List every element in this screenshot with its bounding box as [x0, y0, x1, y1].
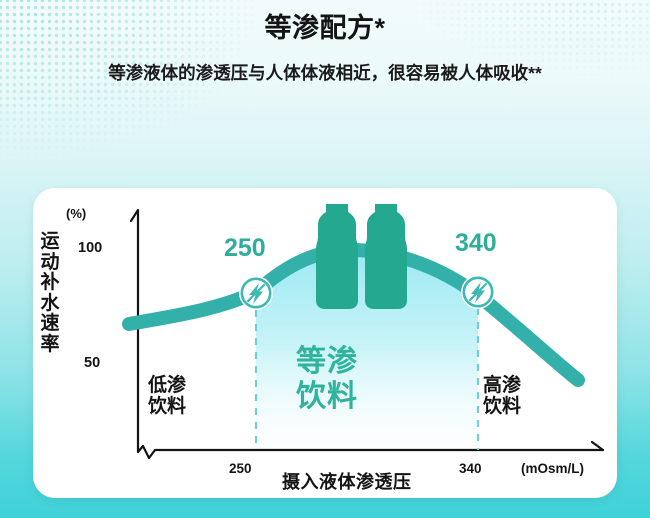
marker-value-250: 250 — [224, 234, 266, 263]
bottle-icon-left — [316, 204, 358, 309]
chart-card — [33, 188, 617, 498]
x-tick-label-340: 340 — [459, 461, 482, 476]
page-title: 等渗配方* — [0, 6, 650, 45]
lightning-bolt-badge-250[interactable] — [239, 276, 273, 310]
zone-isotonic-line-1: 等渗 — [296, 345, 358, 380]
y-tick-label-100: 100 — [78, 240, 102, 256]
poster-canvas: 等渗配方* 等渗液体的渗透压与人体体液相近，很容易被人体吸收** — [0, 0, 650, 518]
zone-label-hypertonic: 高渗 饮料 — [483, 375, 521, 418]
x-axis-unit-label: (mOsm/L) — [521, 461, 584, 476]
lightning-bolt-badge-340[interactable] — [461, 275, 495, 309]
zone-label-hypotonic: 低渗 饮料 — [148, 375, 186, 418]
zone-hypertonic-line-1: 高渗 — [483, 375, 521, 396]
zone-hypertonic-line-2: 饮料 — [483, 396, 521, 417]
zone-hypotonic-line-1: 低渗 — [148, 375, 186, 396]
y-axis-title-char-1: 运 — [38, 232, 62, 253]
x-tick-label-250: 250 — [229, 461, 252, 476]
y-axis-title-char-6: 率 — [38, 335, 62, 356]
zone-isotonic-line-2: 饮料 — [296, 380, 358, 415]
x-axis-arrow — [592, 442, 603, 450]
bottle-icon-right — [365, 204, 407, 309]
marker-value-340: 340 — [455, 229, 497, 258]
y-tick-label-50: 50 — [84, 355, 100, 371]
y-axis-title: 运 动 补 水 速 率 — [38, 232, 62, 355]
y-axis-title-char-2: 动 — [38, 253, 62, 274]
zone-hypotonic-line-2: 饮料 — [148, 396, 186, 417]
page-subtitle: 等渗液体的渗透压与人体体液相近，很容易被人体吸收** — [0, 60, 650, 85]
y-axis-title-char-5: 速 — [38, 314, 62, 335]
y-axis-title-char-4: 水 — [38, 294, 62, 315]
zone-label-isotonic: 等渗 饮料 — [296, 345, 358, 415]
x-axis-title: 摄入液体渗透压 — [282, 468, 412, 494]
y-axis-unit-label: (%) — [66, 206, 86, 221]
y-axis-title-char-3: 补 — [38, 273, 62, 294]
osmolality-hydration-chart — [33, 188, 617, 498]
